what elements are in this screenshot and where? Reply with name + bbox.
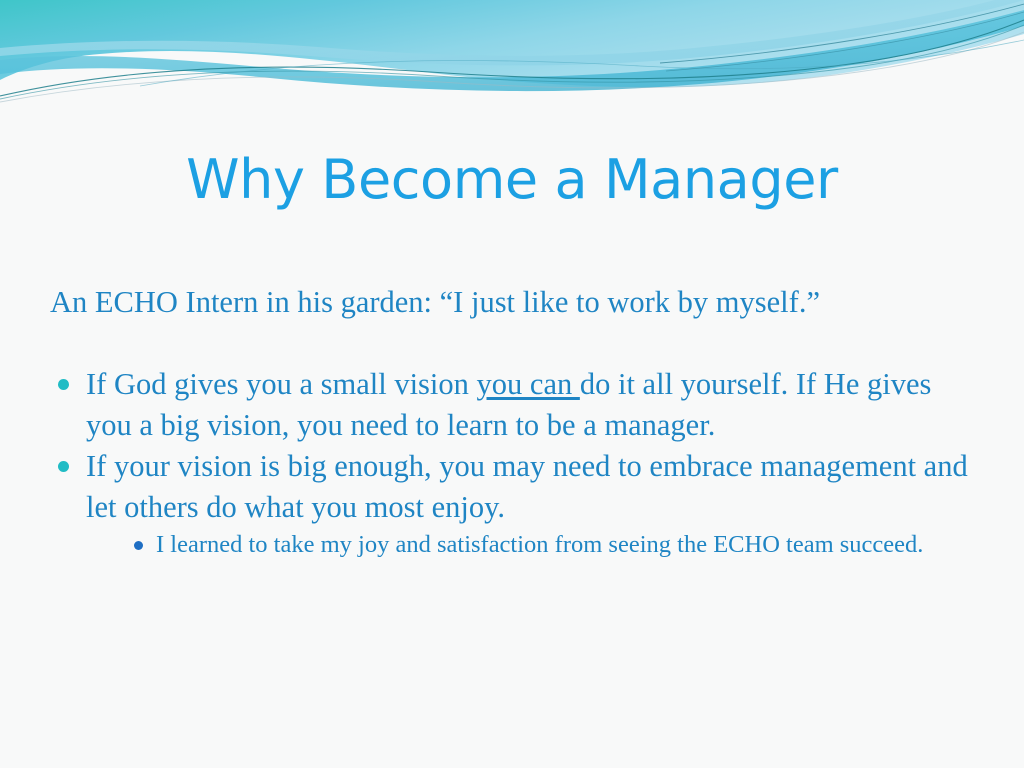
slide-body: An ECHO Intern in his garden: “I just li… xyxy=(48,282,978,561)
slide-title: Why Become a Manager xyxy=(62,148,962,212)
slide-header-decoration xyxy=(0,0,1024,118)
wave-graphic-icon xyxy=(0,0,1024,118)
bullet-dot-icon xyxy=(58,461,69,472)
sub-bullet-text: I learned to take my joy and satisfactio… xyxy=(156,531,923,558)
bullet-text: If your vision is big enough, you may ne… xyxy=(86,449,968,524)
bullet-text-underlined: you can xyxy=(477,367,580,401)
list-item: If God gives you a small vision you can … xyxy=(52,364,978,446)
bullet-text-before-underline: If God gives you a small vision xyxy=(86,367,477,401)
bullet-list-level-1: If God gives you a small vision you can … xyxy=(48,364,978,561)
paragraph-spacer xyxy=(48,323,978,364)
presentation-slide: Why Become a Manager An ECHO Intern in h… xyxy=(0,0,1024,768)
bullet-list-level-2: I learned to take my joy and satisfactio… xyxy=(86,528,978,561)
lead-paragraph: An ECHO Intern in his garden: “I just li… xyxy=(50,282,910,323)
list-item: If your vision is big enough, you may ne… xyxy=(52,446,978,561)
sub-bullet-dot-icon xyxy=(134,541,143,550)
bullet-dot-icon xyxy=(58,379,69,390)
list-item: I learned to take my joy and satisfactio… xyxy=(130,528,978,561)
